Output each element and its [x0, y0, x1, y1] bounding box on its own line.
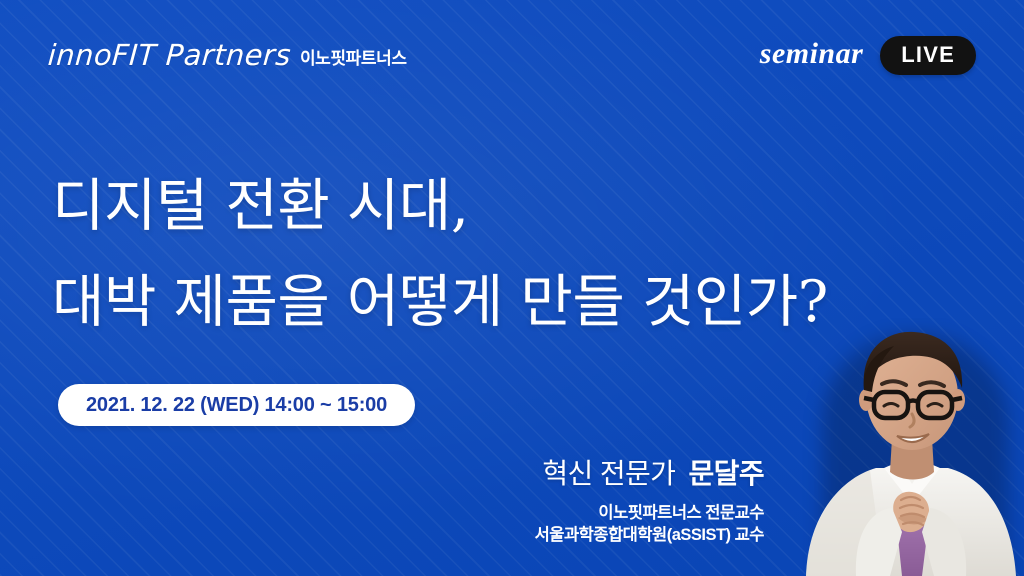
seminar-label: seminar [760, 39, 864, 72]
speaker-photo [798, 318, 1024, 576]
title-line-1: 디지털 전환 시대, [52, 158, 828, 254]
speaker-headline: 혁신 전문가 문달주 [535, 455, 764, 493]
brand-logo-wordmark: innoFIT Partners [47, 38, 292, 72]
title-line-2: 대박 제품을 어떻게 만들 것인가? [52, 254, 828, 350]
live-badge[interactable]: LIVE [880, 36, 976, 75]
brand-logo[interactable]: innoFIT Partners 이노핏파트너스 [48, 38, 407, 72]
brand-logo-korean-name: 이노핏파트너스 [300, 44, 407, 72]
seminar-promo-banner: innoFIT Partners 이노핏파트너스 seminar LIVE 디지… [0, 0, 1024, 576]
speaker-role: 혁신 전문가 [542, 458, 675, 489]
speaker-affiliation-line-1: 이노핏파트너스 전문교수 [535, 502, 764, 524]
seminar-live-group: seminar LIVE [760, 36, 976, 75]
schedule-badge: 2021. 12. 22 (WED) 14:00 ~ 15:00 [58, 384, 415, 426]
speaker-affiliations: 이노핏파트너스 전문교수 서울과학종합대학원(aSSIST) 교수 [535, 502, 764, 546]
page-title: 디지털 전환 시대, 대박 제품을 어떻게 만들 것인가? [52, 158, 828, 350]
speaker-info: 혁신 전문가 문달주 이노핏파트너스 전문교수 서울과학종합대학원(aSSIST… [535, 455, 764, 546]
speaker-name: 문달주 [689, 458, 764, 489]
speaker-photo-illustration [798, 318, 1024, 576]
speaker-affiliation-line-2: 서울과학종합대학원(aSSIST) 교수 [535, 524, 764, 546]
